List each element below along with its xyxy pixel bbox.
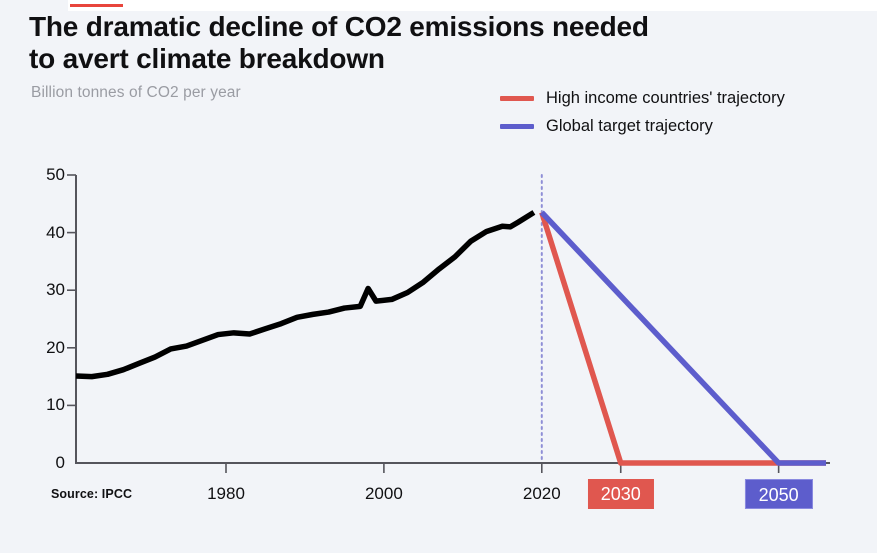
source-note: Source: IPCC (51, 487, 132, 501)
legend-label-global-target: Global target trajectory (546, 117, 713, 136)
x-axis-tick-label: 2020 (507, 484, 577, 504)
legend-label-high-income: High income countries' trajectory (546, 89, 785, 108)
y-axis-tick-label: 0 (19, 453, 65, 473)
y-axis-tick-label: 30 (19, 280, 65, 300)
y-axis-tick-label: 40 (19, 223, 65, 243)
page-title-line1: The dramatic decline of CO2 emissions ne… (29, 11, 729, 43)
series-high-income-countries-trajectory (542, 212, 826, 463)
y-axis-tick-label: 10 (19, 395, 65, 415)
year-badge-2030[interactable]: 2030 (588, 479, 654, 509)
page-title-line2: to avert climate breakdown (29, 43, 729, 75)
x-axis-tick-label: 1980 (191, 484, 261, 504)
legend-swatch-global-target (500, 124, 534, 129)
year-badge-2050[interactable]: 2050 (745, 479, 813, 509)
series-historical-emissions (76, 212, 534, 376)
top-white-strip (68, 0, 877, 11)
chart-legend: High income countries' trajectory Global… (500, 84, 870, 140)
chart-page: The dramatic decline of CO2 emissions ne… (0, 0, 877, 553)
series-global-target-trajectory (542, 212, 826, 463)
chart-plot (0, 0, 877, 553)
x-axis-tick-label: 2000 (349, 484, 419, 504)
legend-item-global-target[interactable]: Global target trajectory (500, 112, 870, 140)
legend-item-high-income[interactable]: High income countries' trajectory (500, 84, 870, 112)
y-axis-tick-label: 20 (19, 338, 65, 358)
accent-rule (70, 4, 123, 7)
y-axis-tick-label: 50 (19, 165, 65, 185)
chart-subtitle: Billion tonnes of CO2 per year (31, 84, 241, 102)
legend-swatch-high-income (500, 96, 534, 101)
page-title: The dramatic decline of CO2 emissions ne… (29, 11, 729, 75)
